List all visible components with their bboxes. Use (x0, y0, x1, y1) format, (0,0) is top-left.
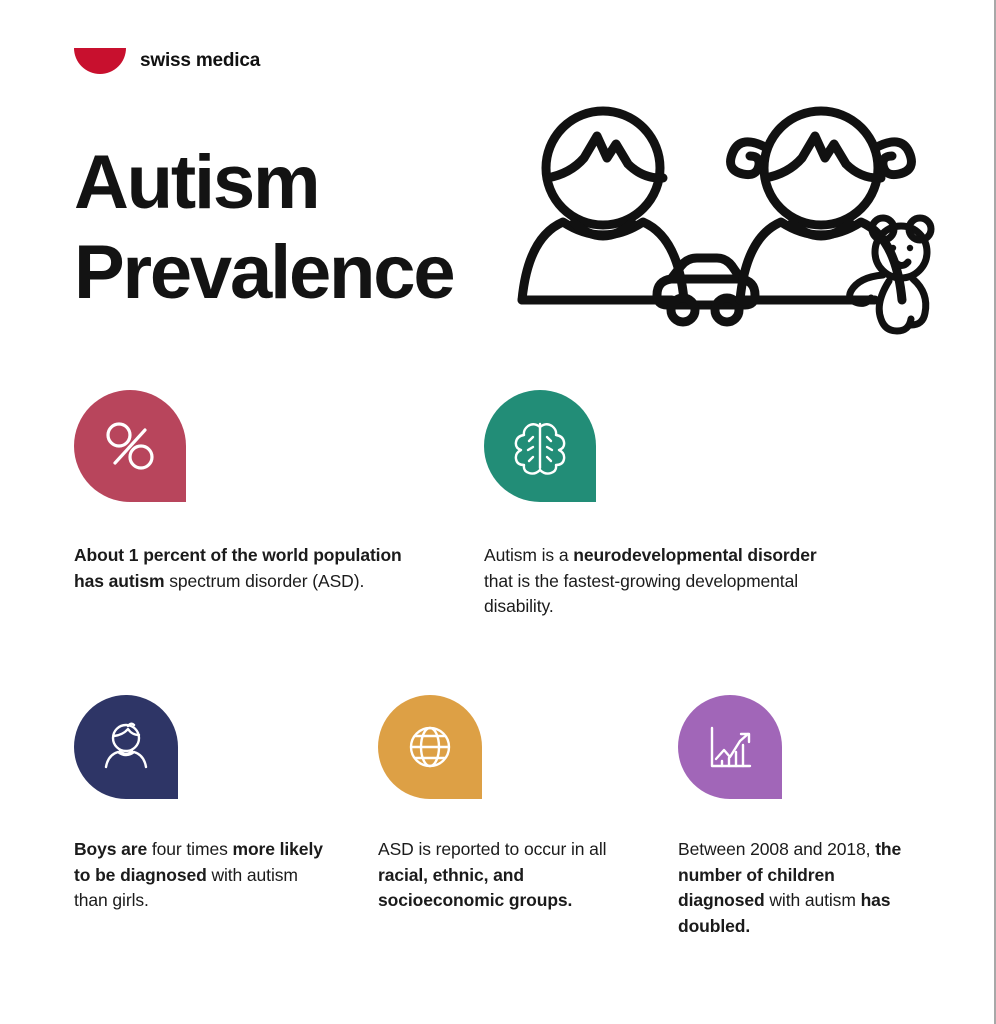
fact-card-growth: Between 2008 and 2018, the number of chi… (678, 695, 923, 940)
fact-card-boys-ratio: Boys are four times more likely to be di… (74, 695, 329, 914)
fact-text-prevalence: About 1 percent of the world population … (74, 543, 404, 594)
brand-name: swiss medica (140, 50, 260, 72)
boy-with-toy-car-icon (522, 111, 755, 322)
fact-text-neurodevelopmental: Autism is a neurodevelopmental disorder … (484, 543, 829, 620)
girl-with-teddy-bear-icon (731, 111, 931, 331)
fact-card-prevalence: About 1 percent of the world population … (74, 390, 404, 594)
fact-card-neurodevelopmental: Autism is a neurodevelopmental disorder … (484, 390, 829, 620)
fact-text-boys-ratio: Boys are four times more likely to be di… (74, 837, 329, 914)
page-title-line-1: Autism (74, 138, 453, 228)
fact-text-growth: Between 2008 and 2018, the number of chi… (678, 837, 923, 940)
children-illustration (505, 105, 935, 345)
boy-face-icon-pin (74, 695, 178, 799)
page-title: Autism Prevalence (74, 138, 453, 317)
percent-icon-pin (74, 390, 186, 502)
half-circle-logo-icon (74, 48, 126, 74)
fact-card-demographics: ASD is reported to occur in all racial, … (378, 695, 628, 914)
brain-icon-pin (484, 390, 596, 502)
brand-logo: swiss medica (74, 48, 260, 74)
growth-chart-icon-pin (678, 695, 782, 799)
page-title-line-2: Prevalence (74, 228, 453, 318)
infographic-page: swiss medica Autism Prevalence (0, 0, 996, 1024)
fact-text-demographics: ASD is reported to occur in all racial, … (378, 837, 628, 914)
globe-icon-pin (378, 695, 482, 799)
